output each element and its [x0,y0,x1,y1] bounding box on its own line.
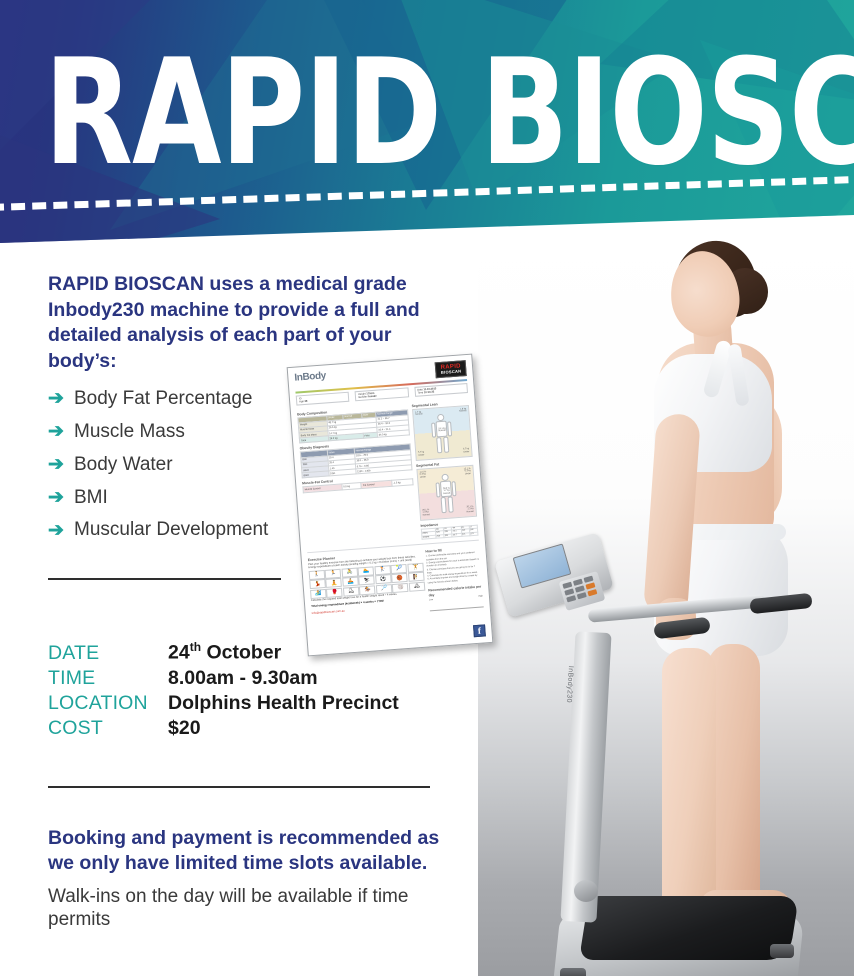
detail-label: TIME [48,667,168,690]
exercise-icon-hiking: 🏔 [409,581,426,591]
arrow-right-icon: ➔ [48,422,74,441]
fat-trunk: 28.3 % 1.7 kg Normal [443,487,451,495]
closing-section: Booking and payment is recommended as we… [48,826,448,932]
exercise-planner-left: Exercise Planner Plan your healthy exerc… [307,547,426,620]
divider-top [48,578,281,580]
arrow-right-icon: ➔ [48,389,74,408]
machine-foot-plate [579,896,799,960]
inbody-logo: InBody [294,370,326,383]
fat-control-label: Fat Control [361,481,392,488]
total-label: Total [299,436,328,443]
segmental-fat-figure: 11.5 % 0.3 kg Under 12.1 % 0.3 kg Under … [416,464,477,520]
woman-leg-front [662,648,716,924]
inbody-result-sheet: InBody RAPID BIOSCAN ID Age 28 Height 17… [287,354,494,657]
total-value: 26.2 kg [328,434,363,442]
list-item-label: Body Water [74,454,173,476]
list-item-label: BMI [74,487,108,509]
body-figure-icon [431,413,454,454]
ffm-value: 34.0 kg [377,430,409,438]
arrow-right-icon: ➔ [48,488,74,507]
list-item-label: Body Fat Percentage [74,388,253,410]
product-photo: InBody230 [478,228,854,976]
booking-notice: Booking and payment is recommended as we… [48,826,448,877]
imp-value: 221 [461,532,469,536]
poster-header: RAPID BIOSCAN [0,0,854,246]
lean-leg-right: 5.7 kg Under [418,452,424,458]
exercise-planner-howto: How to fill 1. Choose preferable exercis… [425,543,484,611]
machine-foot-pad-left [560,968,586,976]
meta-gender-value: Female [368,394,377,398]
signature-line [429,601,483,611]
row-label: BMR [302,471,329,478]
exercise-icon-horse: 🏇 [359,585,376,595]
detail-row-time: TIME 8.00am - 9.30am [48,667,478,690]
facebook-icon[interactable]: f [473,624,486,637]
list-item-label: Muscular Development [74,519,268,541]
report-right-column: Segmental Lean 1.7 kg Normal 1.8 kg Norm… [411,396,478,540]
segmental-lean-figure: 1.7 kg Normal 1.8 kg Normal 19.1 kg Norm… [412,404,473,460]
fat-leg-left: 20.1 % 1.3 kg Normal [466,505,474,513]
meta-time-value: 10:14:32 [424,390,435,394]
exercise-icon-volleyball: 🏐 [392,583,409,593]
detail-value-sup: th [190,640,201,654]
scale-high-label: High [478,596,483,600]
meta-time-label: Time [417,391,423,394]
brand-word-bioscan: BIOSCAN [441,369,462,374]
meta-datetime: Date 11.10.2013 Time 10:14:32 [414,383,468,397]
ffm-label: FFM [363,433,378,439]
meta-gender-label: Gender [358,395,367,399]
detail-label: DATE [48,642,168,665]
lean-trunk: 19.1 kg Normal [438,427,446,433]
lean-arm-left: 1.8 kg Normal [459,408,466,414]
meta-age-value: 28 [304,399,307,402]
report-left-column: Body Composition Under Normal Over Norma… [297,401,418,549]
rapid-bioscan-logo: RAPID BIOSCAN [435,360,467,378]
list-item-label: Muscle Mass [74,421,185,443]
detail-value: 8.00am - 9.30am [168,667,318,690]
detail-row-cost: COST $20 [48,717,478,740]
scale-low-label: Low [429,599,433,603]
detail-value-text: 24 [168,642,190,664]
report-body: Body Composition Under Normal Over Norma… [297,396,479,548]
imp-value: 221 [469,532,478,536]
exercise-planner-section: Exercise Planner Plan your healthy exerc… [307,540,483,620]
meta-id: ID Age 28 [296,391,350,405]
exercise-icon-badminton: 🏸 [376,584,393,594]
fat-control-value: -1.5 kg [391,479,412,486]
lean-leg-left: 5.7 kg Under [463,448,469,454]
lean-arm-right: 1.7 kg Normal [415,411,422,417]
detail-label: COST [48,717,168,740]
exercise-icon-skating: ⛸ [343,586,360,596]
detail-label: LOCATION [48,692,168,715]
event-details: DATE 24th October TIME 8.00am - 9.30am L… [48,640,478,742]
imp-value: 298 [436,534,444,538]
exercise-icon-boxing: 🥊 [326,587,343,597]
fat-arm-left: 12.1 % 0.3 kg Under [464,468,471,476]
exercise-icon-surfing: 🏄 [310,589,327,599]
machine-foot-pad-right [770,944,794,958]
fat-arm-right: 11.5 % 0.3 kg Under [419,471,426,479]
muscle-control-label: Muscle Control [303,484,342,492]
arrow-right-icon: ➔ [48,521,74,540]
detail-value-suffix: October [201,642,281,664]
imp-value: 304 [444,534,452,538]
page-title: RAPID BIOSCAN [44,40,854,186]
detail-value: $20 [168,717,201,740]
fat-leg-right: 20.1 % 1.3 kg Normal [422,509,430,517]
divider-bottom [48,786,430,788]
freq-label: 100kHz [422,535,436,540]
row-value: 1051 [328,469,356,476]
detail-value: Dolphins Health Precinct [168,692,399,715]
detail-value: 24th October [168,640,281,665]
detail-row-location: LOCATION Dolphins Health Precinct [48,692,478,715]
arrow-right-icon: ➔ [48,455,74,474]
muscle-control-value: 0.0 kg [342,483,362,490]
machine-knob [574,880,598,902]
imp-value: 20.7 [452,533,461,537]
walkin-notice: Walk-ins on the day will be available if… [48,885,448,933]
meta-height-gender: Height 170cm Gender Female [355,387,409,401]
